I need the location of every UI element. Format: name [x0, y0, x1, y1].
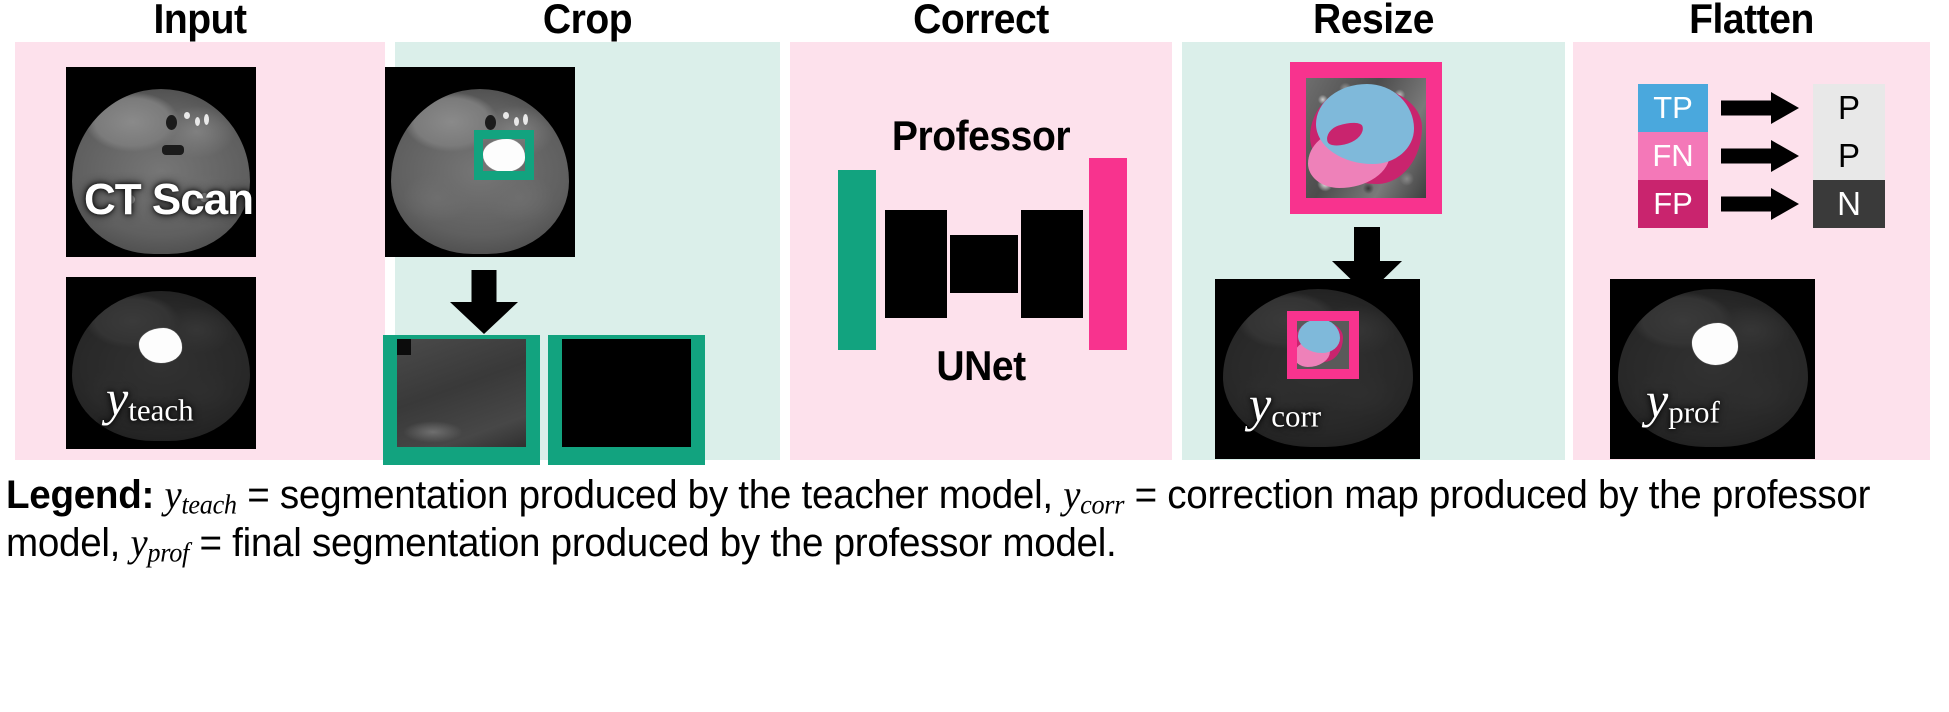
cropped-ct-patch	[397, 339, 526, 447]
class-label-tp: TP	[1653, 90, 1693, 126]
arrow-head	[1771, 92, 1799, 124]
contrast-speck-a	[184, 112, 190, 119]
panel-header-correct: Correct	[803, 0, 1158, 42]
resize-result-image: ycorr	[1215, 279, 1420, 459]
ct-scan-caption: CT Scan	[84, 175, 253, 225]
correction-map-image	[1306, 78, 1426, 198]
crop-down-arrow	[450, 270, 518, 334]
panel-header-resize: Resize	[1195, 0, 1551, 42]
legend-math-yprof: yprof	[131, 520, 189, 565]
class-label-fp: FP	[1653, 186, 1693, 222]
patch-corner-dark	[397, 339, 411, 355]
mask-lesion-blob	[562, 339, 667, 439]
class-chip-fp: FP	[1638, 180, 1708, 228]
arrow-shaft	[472, 270, 497, 304]
map-arrow-fn	[1721, 140, 1799, 172]
y-symbol: y	[1249, 376, 1271, 432]
contrast-speck-a	[503, 112, 509, 119]
panel-correct: Professor UNet	[790, 42, 1172, 460]
y-prof-label: yprof	[1646, 375, 1720, 428]
unet-output-bar	[1089, 158, 1127, 350]
contrast-speck-b	[195, 117, 200, 126]
arrow-head	[1771, 188, 1799, 220]
y-subscript: prof	[1668, 395, 1720, 430]
result-label-fn: P	[1838, 137, 1860, 175]
contrast-speck-c	[204, 114, 209, 125]
class-label-fn: FN	[1652, 138, 1693, 174]
unet-bottleneck	[950, 235, 1018, 293]
result-chip-tp: P	[1813, 84, 1885, 132]
flatten-mapping: TP FN FP P	[1573, 42, 1930, 272]
panel-input: CT Scan yteach	[15, 42, 385, 460]
vessel-dot	[166, 115, 177, 130]
crop-source-image	[385, 67, 575, 257]
professor-lesion-mask	[1692, 323, 1738, 365]
correction-map-frame	[1290, 62, 1442, 214]
unet-label: UNet	[803, 342, 1158, 390]
legend-math-ycorr: ycorr	[1063, 472, 1124, 517]
contrast-speck-c	[523, 114, 528, 125]
class-chip-fn: FN	[1638, 132, 1708, 180]
y-subscript: corr	[1271, 399, 1321, 434]
result-chip-fp: N	[1813, 180, 1885, 228]
class-chip-tp: TP	[1638, 84, 1708, 132]
input-ct-scan-image: CT Scan	[66, 67, 256, 257]
arrow-shaft	[1354, 227, 1380, 263]
gas-pocket	[162, 145, 184, 155]
arrow-shaft	[1721, 101, 1773, 116]
y-symbol: y	[106, 370, 128, 426]
unet-diagram	[790, 42, 1172, 460]
result-label-tp: P	[1838, 89, 1860, 127]
y-symbol: y	[1646, 372, 1668, 428]
cropped-mask-patch	[562, 339, 691, 447]
arrow-head	[450, 302, 518, 334]
bounding-box	[474, 130, 534, 180]
mask-lesion-tail	[562, 439, 608, 447]
panel-header-input: Input	[28, 0, 372, 42]
panel-header-crop: Crop	[408, 0, 766, 42]
unet-input-bar	[838, 170, 876, 350]
legend: Legend: yteach = segmentation produced b…	[6, 472, 1878, 569]
patch-soft-tissue	[403, 421, 463, 443]
result-chip-fn: P	[1813, 132, 1885, 180]
cropped-mask-frame	[548, 335, 705, 465]
legend-text-3: = final segmentation produced by the pro…	[189, 521, 1116, 565]
figure-root: Input Crop Correct Resize Flatten CT Sca…	[0, 0, 1949, 712]
panel-resize: ycorr	[1182, 42, 1565, 460]
result-label-fp: N	[1837, 185, 1861, 223]
arrow-shaft	[1721, 149, 1773, 164]
map-arrow-tp	[1721, 92, 1799, 124]
legend-label: Legend:	[6, 473, 154, 517]
contrast-speck-b	[514, 117, 519, 126]
panel-flatten: TP FN FP P	[1573, 42, 1930, 460]
y-teach-label: yteach	[106, 373, 194, 426]
unet-encoder-block	[885, 210, 947, 318]
abdomen-silhouette	[72, 89, 250, 254]
cropped-patch-frame	[383, 335, 540, 465]
unet-decoder-block	[1021, 210, 1083, 318]
arrow-shaft	[1721, 197, 1773, 212]
vessel-dot	[485, 115, 496, 130]
teacher-lesion-mask	[139, 328, 182, 363]
flatten-result-image: yprof	[1610, 279, 1815, 459]
y-subscript: teach	[128, 393, 193, 428]
resize-bbox	[1287, 311, 1359, 379]
map-arrow-fp	[1721, 188, 1799, 220]
panel-crop	[395, 42, 780, 460]
input-teacher-seg-image: yteach	[66, 277, 256, 449]
panel-header-flatten: Flatten	[1585, 0, 1917, 42]
legend-text-1: = segmentation produced by the teacher m…	[237, 473, 1063, 517]
arrow-head	[1771, 140, 1799, 172]
y-corr-label: ycorr	[1249, 379, 1321, 432]
legend-math-yteach: yteach	[165, 472, 237, 517]
